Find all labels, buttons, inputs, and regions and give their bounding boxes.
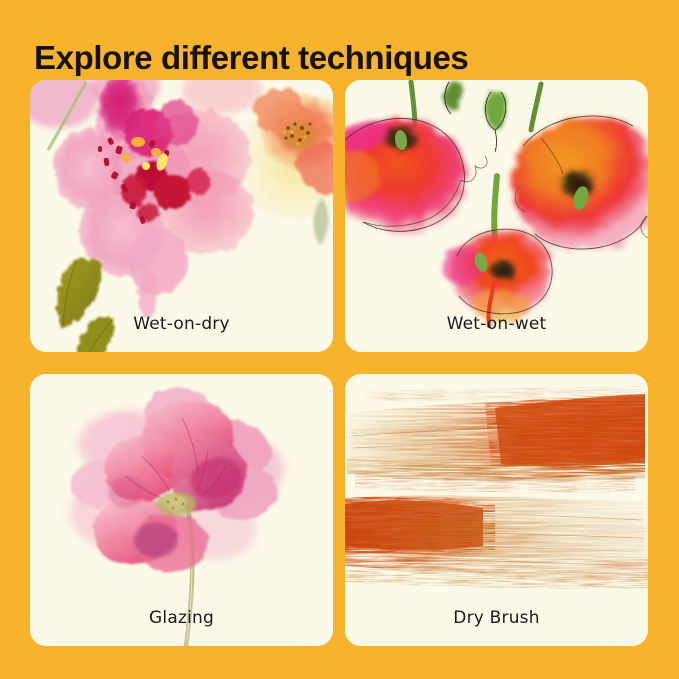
watercolor-pink-glazed-flower-icon	[30, 374, 333, 646]
watercolor-pink-blossom-icon	[30, 80, 333, 352]
technique-card-label: Dry Brush	[345, 608, 648, 628]
technique-card-wet-on-dry[interactable]: Wet-on-dry	[30, 80, 333, 352]
technique-card-grid: Wet-on-dry	[30, 80, 648, 646]
dry-brush-orange-strokes-icon	[345, 374, 648, 646]
page-title: Explore different techniques	[34, 39, 468, 77]
technique-card-label: Wet-on-wet	[345, 314, 648, 334]
technique-card-label: Wet-on-dry	[30, 314, 333, 334]
watercolor-red-poppies-icon	[345, 80, 648, 352]
technique-card-label: Glazing	[30, 608, 333, 628]
technique-card-glazing[interactable]: Glazing	[30, 374, 333, 646]
technique-card-dry-brush[interactable]: Dry Brush	[345, 374, 648, 646]
technique-card-wet-on-wet[interactable]: Wet-on-wet	[345, 80, 648, 352]
techniques-page: Explore different techniques	[0, 0, 679, 679]
